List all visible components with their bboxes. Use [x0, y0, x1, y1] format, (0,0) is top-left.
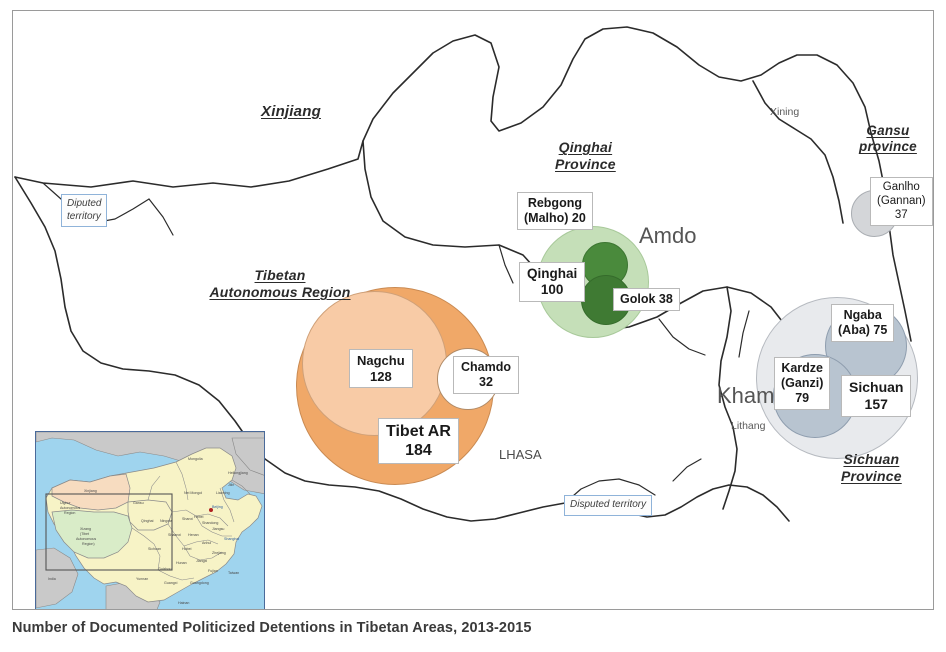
geo-label-kham: Kham: [717, 383, 774, 409]
inset-label: Henan: [188, 533, 199, 537]
value-box-tibet-ar[interactable]: Tibet AR 184: [378, 418, 459, 464]
disputed-line: Disputed territory: [570, 499, 646, 512]
value-box-rebgong-malho[interactable]: Rebgong (Malho) 20: [517, 192, 593, 230]
inset-label: Fujian: [208, 569, 218, 573]
value-box-name: Sichuan: [849, 379, 903, 396]
inset-label: Yunnan: [136, 577, 148, 581]
value-box-number: 128: [357, 369, 405, 385]
inset-label: Uighur: [60, 501, 71, 505]
value-box-name: Nagchu: [357, 353, 405, 369]
value-box-line: 37: [877, 209, 926, 223]
value-box-number: 32: [461, 375, 511, 390]
value-box-sichuan[interactable]: Sichuan 157: [841, 375, 911, 417]
region-line: Xinjiang: [261, 103, 321, 121]
value-box-line: (Aba) 75: [838, 323, 887, 338]
region-label-gansu-province: Gansu province: [859, 123, 917, 156]
value-box-line: Ganlho: [877, 181, 926, 195]
region-label-xinjiang: Xinjiang: [261, 103, 321, 121]
inset-label: Sichuan: [148, 547, 161, 551]
region-line: province: [859, 139, 917, 155]
inset-label: Guangdong: [190, 581, 209, 585]
value-box-ganlho-gannan[interactable]: Ganlho (Gannan) 37: [870, 177, 933, 226]
inset-label: Autonomous: [60, 506, 80, 510]
value-box-qinghai[interactable]: Qinghai 100: [519, 262, 585, 302]
value-box-nagchu[interactable]: Nagchu 128: [349, 349, 413, 388]
region-label-sichuan-province: Sichuan Province: [841, 451, 902, 485]
inset-label: Beijing: [212, 505, 223, 509]
inset-label: Hebei: [194, 515, 204, 519]
value-box-line: 79: [781, 391, 823, 406]
region-line: Autonomous Region: [193, 284, 367, 301]
inset-label: Xizang: [80, 527, 91, 531]
region-line: Sichuan: [841, 451, 902, 468]
inset-label: Jilin: [228, 483, 234, 487]
inset-label: Autonomous: [76, 537, 96, 541]
value-box-line: Kardze: [781, 361, 823, 376]
inset-label: Ningxia: [160, 519, 172, 523]
inset-label: Xinjiang: [84, 489, 97, 493]
inset-label: Region): [82, 542, 95, 546]
value-box-number: 184: [386, 441, 451, 460]
inset-label: (Tibet: [80, 532, 89, 536]
inset-label: India: [48, 577, 56, 581]
inset-label: Jiangxi: [196, 559, 207, 563]
inset-label: Nei Mongol: [184, 491, 202, 495]
region-line: Province: [841, 468, 902, 485]
tibet-detentions-map: Xinjiang Qinghai Province Gansu province…: [12, 10, 934, 610]
value-box-name: Qinghai: [527, 266, 577, 282]
region-line: Province: [555, 156, 616, 173]
value-box-line: Rebgong: [524, 196, 586, 211]
geo-label-lhasa: LHASA: [499, 447, 542, 462]
value-box-number: 157: [849, 396, 903, 413]
value-box-line: Ngaba: [838, 308, 887, 323]
inset-label: Shandong: [202, 521, 218, 525]
inset-label: Region: [64, 511, 75, 515]
disputed-line: territory: [67, 211, 101, 224]
region-line: Qinghai: [555, 139, 616, 156]
value-box-line: (Ganzi): [781, 376, 823, 391]
disputed-territory-south: Disputed territory: [564, 495, 652, 516]
inset-label: Taiwan: [228, 571, 239, 575]
inset-label: Shanghai: [224, 537, 239, 541]
disputed-territory-west: Diputed territory: [61, 194, 107, 227]
value-box-line: (Gannan): [877, 195, 926, 209]
inset-label: Jiangsu: [212, 527, 224, 531]
inset-label: Guizhou: [158, 567, 171, 571]
inset-label: Liaoning: [216, 491, 230, 495]
region-label-qinghai-province: Qinghai Province: [555, 139, 616, 173]
region-label-tibetan-autonomous-region: Tibetan Autonomous Region: [193, 267, 367, 301]
value-box-golok[interactable]: Golok 38: [613, 288, 680, 311]
region-line: Tibetan: [193, 267, 367, 284]
value-box-number: 100: [527, 282, 577, 298]
geo-label-amdo: Amdo: [639, 223, 696, 249]
value-box-ngaba-aba[interactable]: Ngaba (Aba) 75: [831, 304, 894, 342]
inset-label: Hunan: [176, 561, 187, 565]
inset-label: Qinghai: [141, 519, 154, 523]
inset-label: Shanxi: [182, 517, 193, 521]
inset-label: Hainan: [178, 601, 189, 605]
value-box-kardze-ganzi[interactable]: Kardze (Ganzi) 79: [774, 357, 830, 410]
figure-caption: Number of Documented Politicized Detenti…: [12, 620, 922, 636]
inset-map-svg: Mongolia Xinjiang Uighur Autonomous Regi…: [36, 432, 265, 610]
inset-label: Hubei: [182, 547, 192, 551]
inset-label: Mongolia: [188, 457, 203, 461]
china-overview-inset[interactable]: Mongolia Xinjiang Uighur Autonomous Regi…: [35, 431, 265, 610]
inset-label: Heilongjiang: [228, 471, 248, 475]
value-box-chamdo[interactable]: Chamdo 32: [453, 356, 519, 394]
value-box-line: (Malho) 20: [524, 211, 586, 226]
inset-label: Gansu: [133, 501, 144, 505]
region-line: Gansu: [859, 123, 917, 139]
geo-label-lithang: Lithang: [731, 420, 765, 432]
inset-label: Guangxi: [164, 581, 178, 585]
screenshot-root: Xinjiang Qinghai Province Gansu province…: [0, 0, 946, 652]
value-box-line: Golok 38: [620, 292, 673, 307]
inset-label: Shaanxi: [168, 533, 181, 537]
disputed-line: Diputed: [67, 198, 101, 211]
inset-label: Zhejiang: [212, 551, 226, 555]
geo-label-xining: Xining: [770, 106, 799, 118]
value-box-name: Tibet AR: [386, 422, 451, 441]
inset-label: Anhui: [202, 541, 211, 545]
value-box-name: Chamdo: [461, 360, 511, 375]
